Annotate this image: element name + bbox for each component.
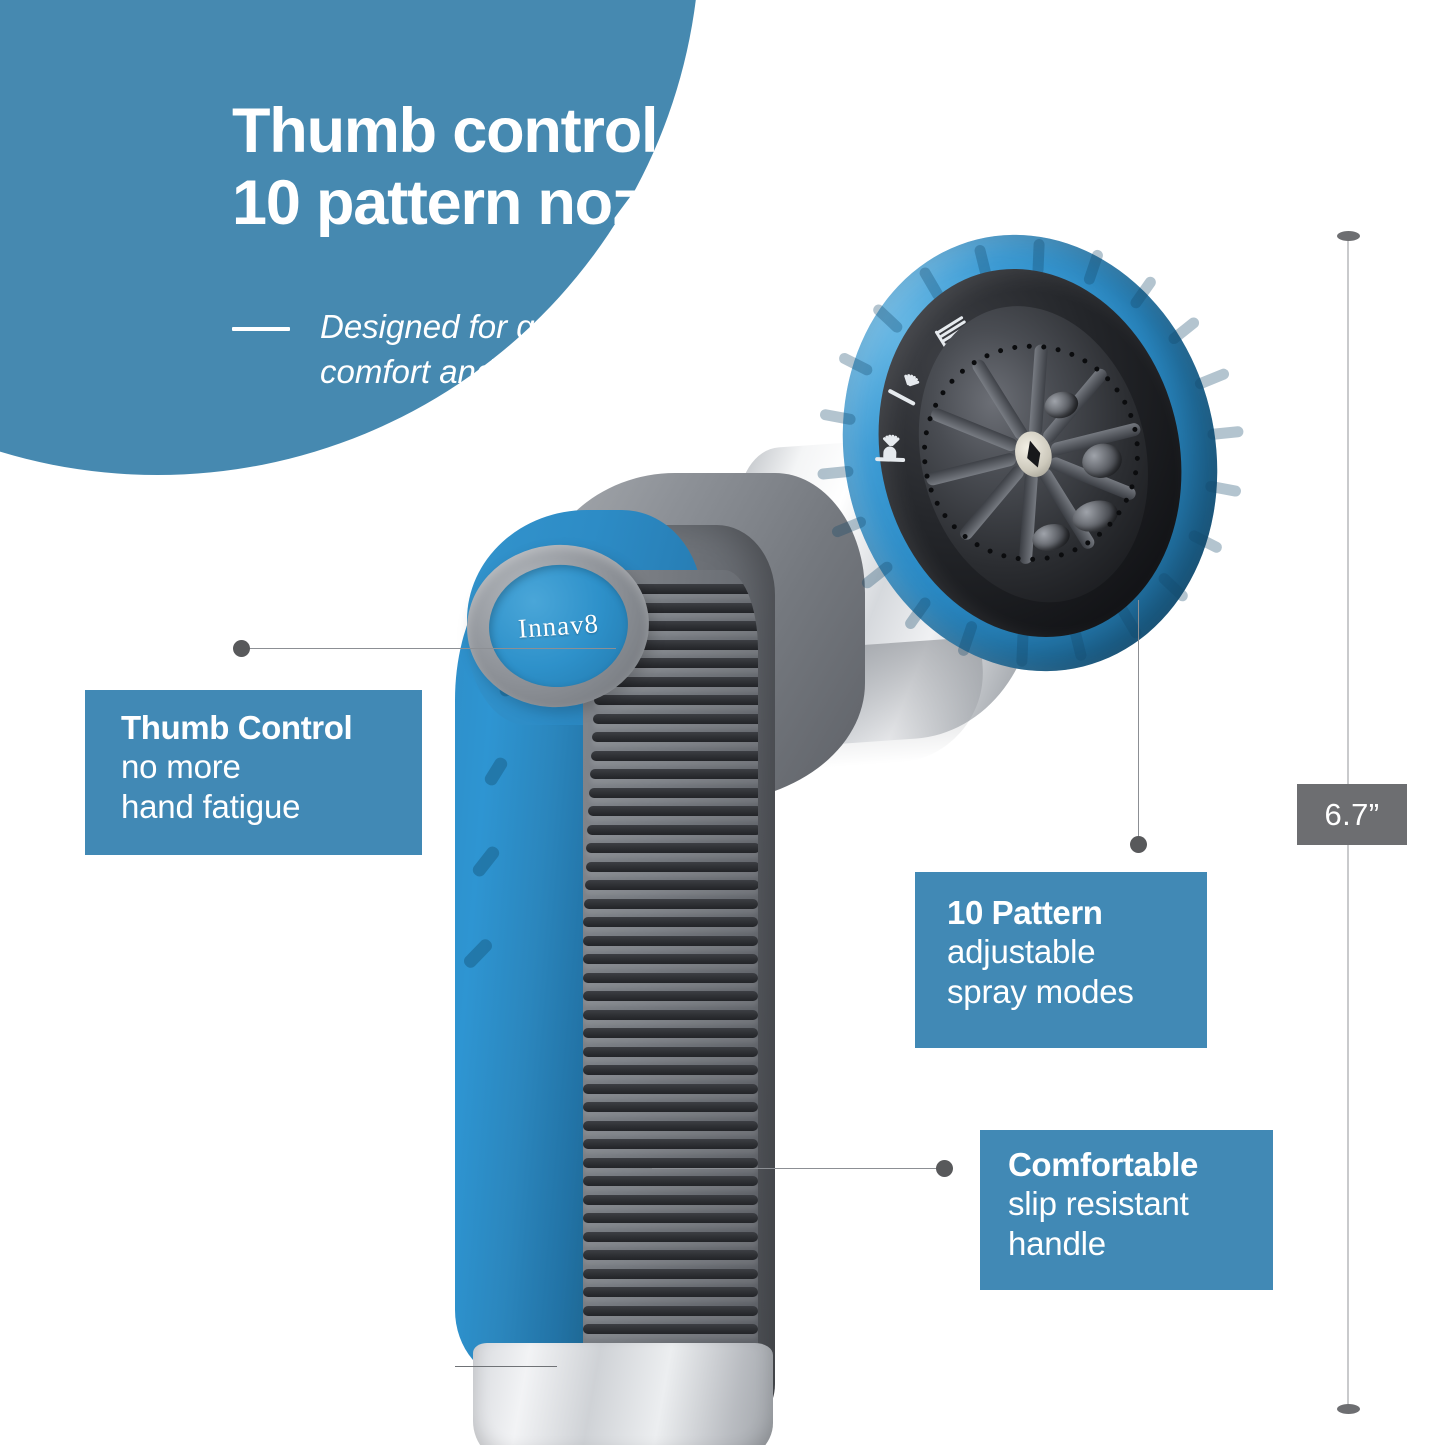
grip-rib (594, 695, 758, 705)
grip-rib (583, 1065, 758, 1075)
leader-line-comfort (652, 1168, 944, 1169)
spray-face-dot (1095, 530, 1102, 537)
head-grip-bump (1193, 367, 1230, 391)
head-grip-bump (1156, 571, 1190, 604)
thumb-control-pad[interactable]: Innav8 (483, 558, 634, 694)
spray-face-dot (1128, 483, 1134, 489)
leader-dot-thumb-control (233, 640, 250, 657)
spray-face-dot (1044, 555, 1050, 561)
hero-heading: Thumb control 10 pattern nozzle (232, 96, 932, 240)
jet-spray-icon (871, 425, 911, 470)
spray-face-blade (1019, 472, 1038, 565)
spray-face-dot (932, 402, 939, 409)
dimension-cap-bottom-icon (1337, 1404, 1360, 1414)
grip-rib (583, 1102, 758, 1112)
leader-line-pattern (1138, 600, 1139, 843)
spray-face-dot (1058, 551, 1064, 557)
chrome-base-cap (473, 1343, 773, 1445)
grip-rib (583, 936, 758, 946)
spray-face-dot (1134, 455, 1139, 460)
spray-face-dot (1113, 386, 1120, 393)
spray-face-dot (927, 486, 934, 493)
callout-pattern-body-line-1: adjustable (947, 932, 1207, 972)
spray-face-dot (1071, 546, 1078, 553)
grip-rib (583, 1232, 758, 1242)
spray-face-dot (950, 523, 957, 530)
head-grip-bump (837, 351, 874, 377)
callout-thumb-body-line-1: no more (121, 747, 422, 787)
leader-line-thumb-control (246, 648, 616, 649)
grip-rib (583, 1158, 758, 1168)
grip-rib (585, 880, 758, 890)
spray-face-dot (923, 430, 929, 436)
grip-rib (583, 1139, 758, 1149)
spray-face-dot (997, 347, 1003, 353)
head-grip-bump (817, 465, 854, 480)
grip-rib (583, 1213, 758, 1223)
grip-rib (583, 1176, 758, 1186)
grip-rib (583, 1084, 758, 1094)
dash-rule-icon (232, 327, 290, 331)
spray-pod (1029, 520, 1072, 554)
callout-comfortable: Comfortable slip resistant handle (980, 1130, 1273, 1290)
callout-comfort-body-line-2: handle (1008, 1224, 1273, 1264)
spray-face-dot (926, 415, 932, 421)
grip-rib (593, 714, 758, 724)
brand-logo: Innav8 (517, 608, 600, 645)
spray-face-dot (1015, 555, 1020, 560)
grip-rib (590, 769, 758, 779)
spray-face-dot (1122, 497, 1129, 504)
grip-rib (589, 788, 758, 798)
spray-face-dot (1029, 556, 1034, 561)
grip-rib (584, 899, 758, 909)
head-grip-bump (871, 302, 905, 335)
callout-comfort-title: Comfortable (1008, 1146, 1273, 1184)
grip-rib (588, 806, 758, 816)
spray-face-dot (958, 367, 965, 374)
slip-resistant-grip (583, 570, 758, 1415)
head-grip-bump (1166, 315, 1201, 346)
callout-pattern-body-line-2: spray modes (947, 972, 1207, 1012)
grip-rib (583, 1269, 758, 1279)
head-grip-bump (1187, 529, 1224, 555)
grip-rib (583, 954, 758, 964)
grip-rib (586, 843, 758, 853)
grip-rib (583, 1287, 758, 1297)
grip-rib (586, 862, 759, 872)
head-grip-bump (1207, 426, 1244, 441)
dimension-badge: 6.7” (1297, 784, 1407, 845)
head-grip-bump (1128, 275, 1158, 311)
leader-dot-pattern (1130, 836, 1147, 853)
head-grip-bump (1204, 480, 1241, 497)
grip-rib (583, 1324, 758, 1334)
grip-rib (583, 1121, 758, 1131)
spray-face-dot (983, 352, 990, 359)
grip-rib (583, 991, 758, 1001)
spray-face-dot (1134, 441, 1140, 447)
callout-thumb-title: Thumb Control (121, 709, 422, 747)
spray-face-dot (1026, 343, 1031, 348)
spray-face-dot (948, 377, 955, 384)
product-infographic: Thumb control 10 pattern nozzle Designed… (0, 0, 1445, 1445)
spray-face-dot (1011, 344, 1017, 350)
hero-title-line-1: Thumb control (232, 96, 932, 168)
grip-rib (583, 1306, 758, 1316)
spray-face-dot (1121, 398, 1128, 405)
callout-ten-pattern: 10 Pattern adjustable spray modes (915, 872, 1207, 1048)
grip-rib (583, 1047, 758, 1057)
grip-rib (592, 732, 758, 742)
spray-face-dot (921, 444, 926, 449)
grip-rib (583, 1010, 758, 1020)
head-grip-bump (957, 620, 979, 658)
leader-dot-comfort (936, 1160, 953, 1177)
callout-comfort-body-line-1: slip resistant (1008, 1184, 1273, 1224)
spray-face-dot (1068, 351, 1074, 357)
spray-face-dot (1000, 552, 1006, 558)
grip-rib (587, 825, 758, 835)
spray-face-dot (939, 389, 946, 396)
spray-face-dot (1081, 357, 1088, 364)
callout-thumb-body-line-2: hand fatigue (121, 787, 422, 827)
spray-face-dot (923, 473, 929, 479)
spray-face-dot (1054, 346, 1060, 352)
dimension-cap-top-icon (1337, 231, 1360, 241)
spray-face-dot (1127, 412, 1134, 419)
grip-rib (583, 1195, 758, 1205)
grip-rib (583, 1250, 758, 1260)
spray-face-dot (973, 541, 980, 548)
grip-rib (583, 917, 758, 927)
spray-face-blade (1029, 344, 1048, 437)
grip-rib (591, 751, 758, 761)
spray-face-dot (933, 500, 940, 507)
spray-face-dot (1040, 344, 1045, 349)
head-grip-bump (819, 408, 856, 425)
leader-line-base (455, 1366, 557, 1367)
head-grip-bump (903, 595, 933, 631)
head-grip-bump (1082, 248, 1104, 286)
spray-face-dot (941, 512, 948, 519)
callout-pattern-title: 10 Pattern (947, 894, 1207, 932)
spray-face-dot (921, 459, 927, 465)
spray-face-dot (1132, 470, 1138, 476)
callout-thumb-control: Thumb Control no more hand fatigue (85, 690, 422, 855)
dimension-label: 6.7” (1324, 797, 1379, 833)
spray-face-dot (986, 548, 992, 554)
grip-rib (583, 1028, 758, 1038)
grip-rib (583, 973, 758, 983)
